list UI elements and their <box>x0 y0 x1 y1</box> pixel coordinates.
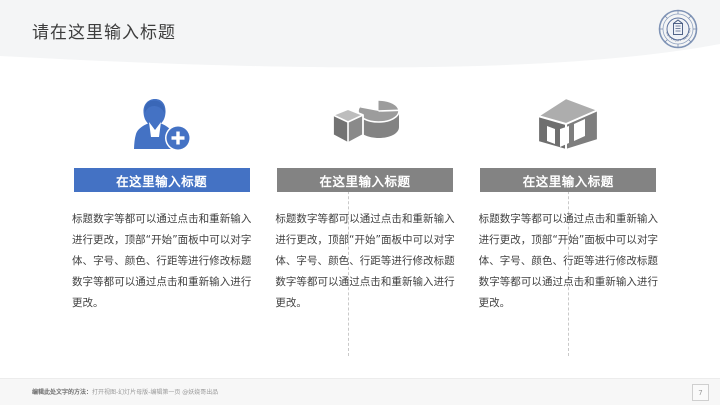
footer-note-bold: 编辑此处文字的方法： <box>32 389 92 396</box>
circular-seal-emblem-icon: UNIVERSITY SEAL EMBLEM <box>658 9 698 49</box>
card-header-2[interactable]: 在这里输入标题 <box>277 168 453 192</box>
card-body-3[interactable]: 标题数字等都可以通过点击和重新输入进行更改，顶部“开始”面板中可以对字体、字号、… <box>479 209 658 314</box>
bar-chart-3d-icon <box>533 88 603 160</box>
footer-note-rest: 打开视图-幻灯片母版-编辑第一页 @妖娆哥出品 <box>92 389 218 396</box>
card-header-3[interactable]: 在这里输入标题 <box>480 168 656 192</box>
content-column-1: 在这里输入标题 标题数字等都可以通过点击和重新输入进行更改，顶部“开始”面板中可… <box>60 88 263 353</box>
slide-canvas: 请在这里输入标题 U <box>0 0 720 405</box>
pie-chart-3d-icon <box>330 88 400 160</box>
content-columns: 在这里输入标题 标题数字等都可以通过点击和重新输入进行更改，顶部“开始”面板中可… <box>60 88 670 353</box>
card-body-1[interactable]: 标题数字等都可以通过点击和重新输入进行更改，顶部“开始”面板中可以对字体、字号、… <box>72 209 251 314</box>
footer-note: 编辑此处文字的方法：打开视图-幻灯片母版-编辑第一页 @妖娆哥出品 <box>32 387 218 396</box>
page-number-badge: 7 <box>692 384 709 401</box>
page-title: 请在这里输入标题 <box>32 18 176 43</box>
add-user-icon <box>129 88 195 160</box>
content-column-2: 在这里输入标题 标题数字等都可以通过点击和重新输入进行更改，顶部“开始”面板中可… <box>263 88 466 353</box>
footer-band: 编辑此处文字的方法：打开视图-幻灯片母版-编辑第一页 @妖娆哥出品 7 <box>0 378 720 405</box>
content-column-3: 在这里输入标题 标题数字等都可以通过点击和重新输入进行更改，顶部“开始”面板中可… <box>467 88 670 353</box>
card-body-2[interactable]: 标题数字等都可以通过点击和重新输入进行更改，顶部“开始”面板中可以对字体、字号、… <box>275 209 454 314</box>
card-header-1[interactable]: 在这里输入标题 <box>74 168 250 192</box>
